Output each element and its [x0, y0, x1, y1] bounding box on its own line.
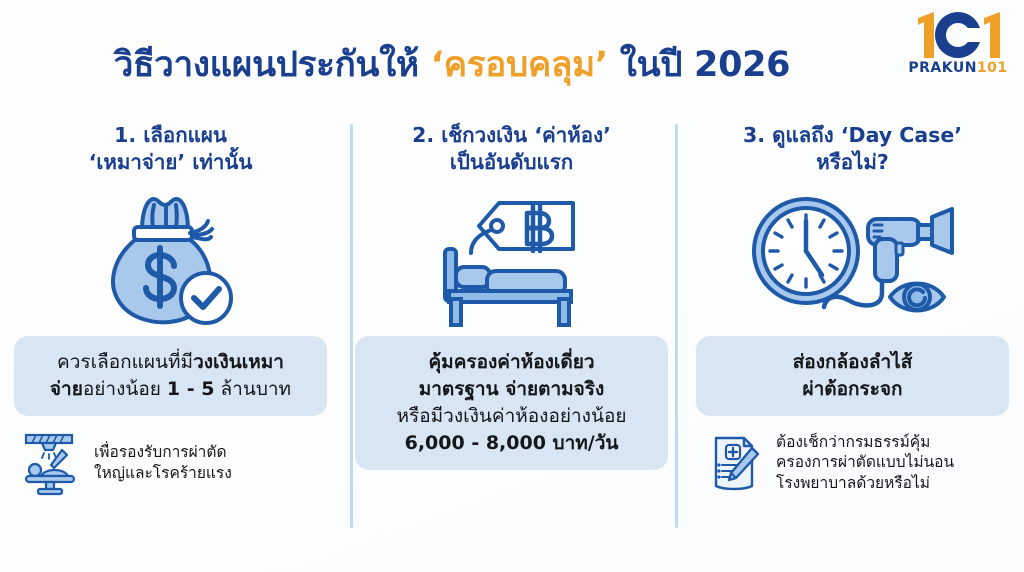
hospital-bed-price-tag-icon: [427, 186, 597, 336]
column-1-footnote-text: เพื่อรองรับการผ่าตัด ใหญ่และโรคร้ายแรง: [94, 442, 232, 484]
page-title: วิธีวางแผนประกันให้ ‘ครอบคลุม’ ในปี 2026: [0, 48, 904, 83]
column-3-footnote: ต้องเช็กว่ากรมธรรม์คุ้ม ครองการผ่าตัดแบบ…: [696, 430, 1009, 496]
column-step-1: 1. เลือกแผน ‘เหมาจ่าย’ เท่านั้น: [0, 118, 341, 548]
clock-endoscope-eye-icon: [748, 186, 958, 336]
column-1-box-line-1: ควรเลือกแผนที่มีวงเงินเหมา: [30, 349, 311, 376]
column-3-info-box: ส่องกล้องลำไส้ ผ่าต้อกระจก: [696, 336, 1009, 416]
column-2-box-line-1: คุ้มครองค่าห้องเดี่ยว: [371, 349, 652, 376]
c1-l1-bold: วงเงินเหมา: [193, 351, 284, 373]
column-2-info-box: คุ้มครองค่าห้องเดี่ยว มาตรฐาน จ่ายตามจริ…: [355, 336, 668, 470]
column-2-heading-line-2: เป็นอันดับแรก: [412, 149, 611, 176]
header: วิธีวางแผนประกันให้ ‘ครอบคลุม’ ในปี 2026…: [0, 0, 1024, 112]
column-2-box-line-4: 6,000 - 8,000 บาท/วัน: [371, 430, 652, 457]
brand-logo: PRAKUN101: [906, 8, 1010, 94]
column-1-footnote-line-1: เพื่อรองรับการผ่าตัด: [94, 442, 232, 463]
surgery-table-icon: [18, 430, 84, 496]
column-3-box-line-1: ส่องกล้องลำไส้: [712, 349, 993, 376]
logo-word-main: PRAKUN: [908, 60, 977, 76]
column-3-footnote-line-2: ครองการผ่าตัดแบบไม่นอน: [776, 452, 954, 473]
column-3-box-line-2: ผ่าต้อกระจก: [712, 376, 993, 403]
column-1-footnote: เพื่อรองรับการผ่าตัด ใหญ่และโรคร้ายแรง: [14, 430, 327, 496]
title-accent: ‘ครอบคลุม’: [431, 45, 608, 85]
column-1-box-line-2: จ่ายอย่างน้อย 1 - 5 ล้านบาท: [30, 376, 311, 403]
column-3-heading-line-1: 3. ดูแลถึง ‘Day Case’: [743, 122, 962, 149]
column-step-3: 3. ดูแลถึง ‘Day Case’ หรือไม่?: [682, 118, 1023, 548]
title-part-2: ในปี 2026: [608, 45, 790, 85]
title-part-1: วิธีวางแผนประกันให้: [114, 45, 431, 85]
c1-l2-tail: ล้านบาท: [214, 378, 291, 400]
money-bag-check-icon: [96, 186, 246, 336]
column-3-footnote-line-3: โรงพยาบาลด้วยหรือไม่: [776, 473, 954, 494]
column-3-heading-line-2: หรือไม่?: [743, 149, 962, 176]
column-1-heading-line-2: ‘เหมาจ่าย’ เท่านั้น: [89, 149, 253, 176]
column-2-box-line-3: หรือมีวงเงินค่าห้องอย่างน้อย: [371, 403, 652, 430]
c1-l1-regular: ควรเลือกแผนที่มี: [57, 351, 193, 373]
c1-l2-number: 1 - 5: [167, 378, 215, 400]
column-3-footnote-text: ต้องเช็กว่ากรมธรรม์คุ้ม ครองการผ่าตัดแบบ…: [776, 432, 954, 495]
logo-word-suffix: 101: [977, 60, 1008, 76]
c1-l2-regular: อย่างน้อย: [83, 378, 167, 400]
column-1-footnote-line-2: ใหญ่และโรคร้ายแรง: [94, 463, 232, 484]
columns-container: 1. เลือกแผน ‘เหมาจ่าย’ เท่านั้น: [0, 118, 1024, 548]
column-3-heading: 3. ดูแลถึง ‘Day Case’ หรือไม่?: [743, 122, 962, 182]
infographic-page: วิธีวางแผนประกันให้ ‘ครอบคลุม’ ในปี 2026…: [0, 0, 1024, 572]
column-step-2: 2. เช็กวงเงิน ‘ค่าห้อง’ เป็นอันดับแรก: [341, 118, 682, 548]
column-3-footnote-line-1: ต้องเช็กว่ากรมธรรม์คุ้ม: [776, 432, 954, 453]
column-1-info-box: ควรเลือกแผนที่มีวงเงินเหมา จ่ายอย่างน้อย…: [14, 336, 327, 416]
c1-l2-bold: จ่าย: [50, 378, 83, 400]
logo-wordmark: PRAKUN101: [906, 60, 1010, 76]
column-2-heading-line-1: 2. เช็กวงเงิน ‘ค่าห้อง’: [412, 122, 611, 149]
column-2-heading: 2. เช็กวงเงิน ‘ค่าห้อง’ เป็นอันดับแรก: [412, 122, 611, 182]
column-2-box-line-2: มาตรฐาน จ่ายตามจริง: [371, 376, 652, 403]
column-1-heading-line-1: 1. เลือกแผน: [89, 122, 253, 149]
medical-document-pen-icon: [700, 430, 766, 496]
logo-mark-101-icon: [906, 8, 1010, 62]
column-1-heading: 1. เลือกแผน ‘เหมาจ่าย’ เท่านั้น: [89, 122, 253, 182]
